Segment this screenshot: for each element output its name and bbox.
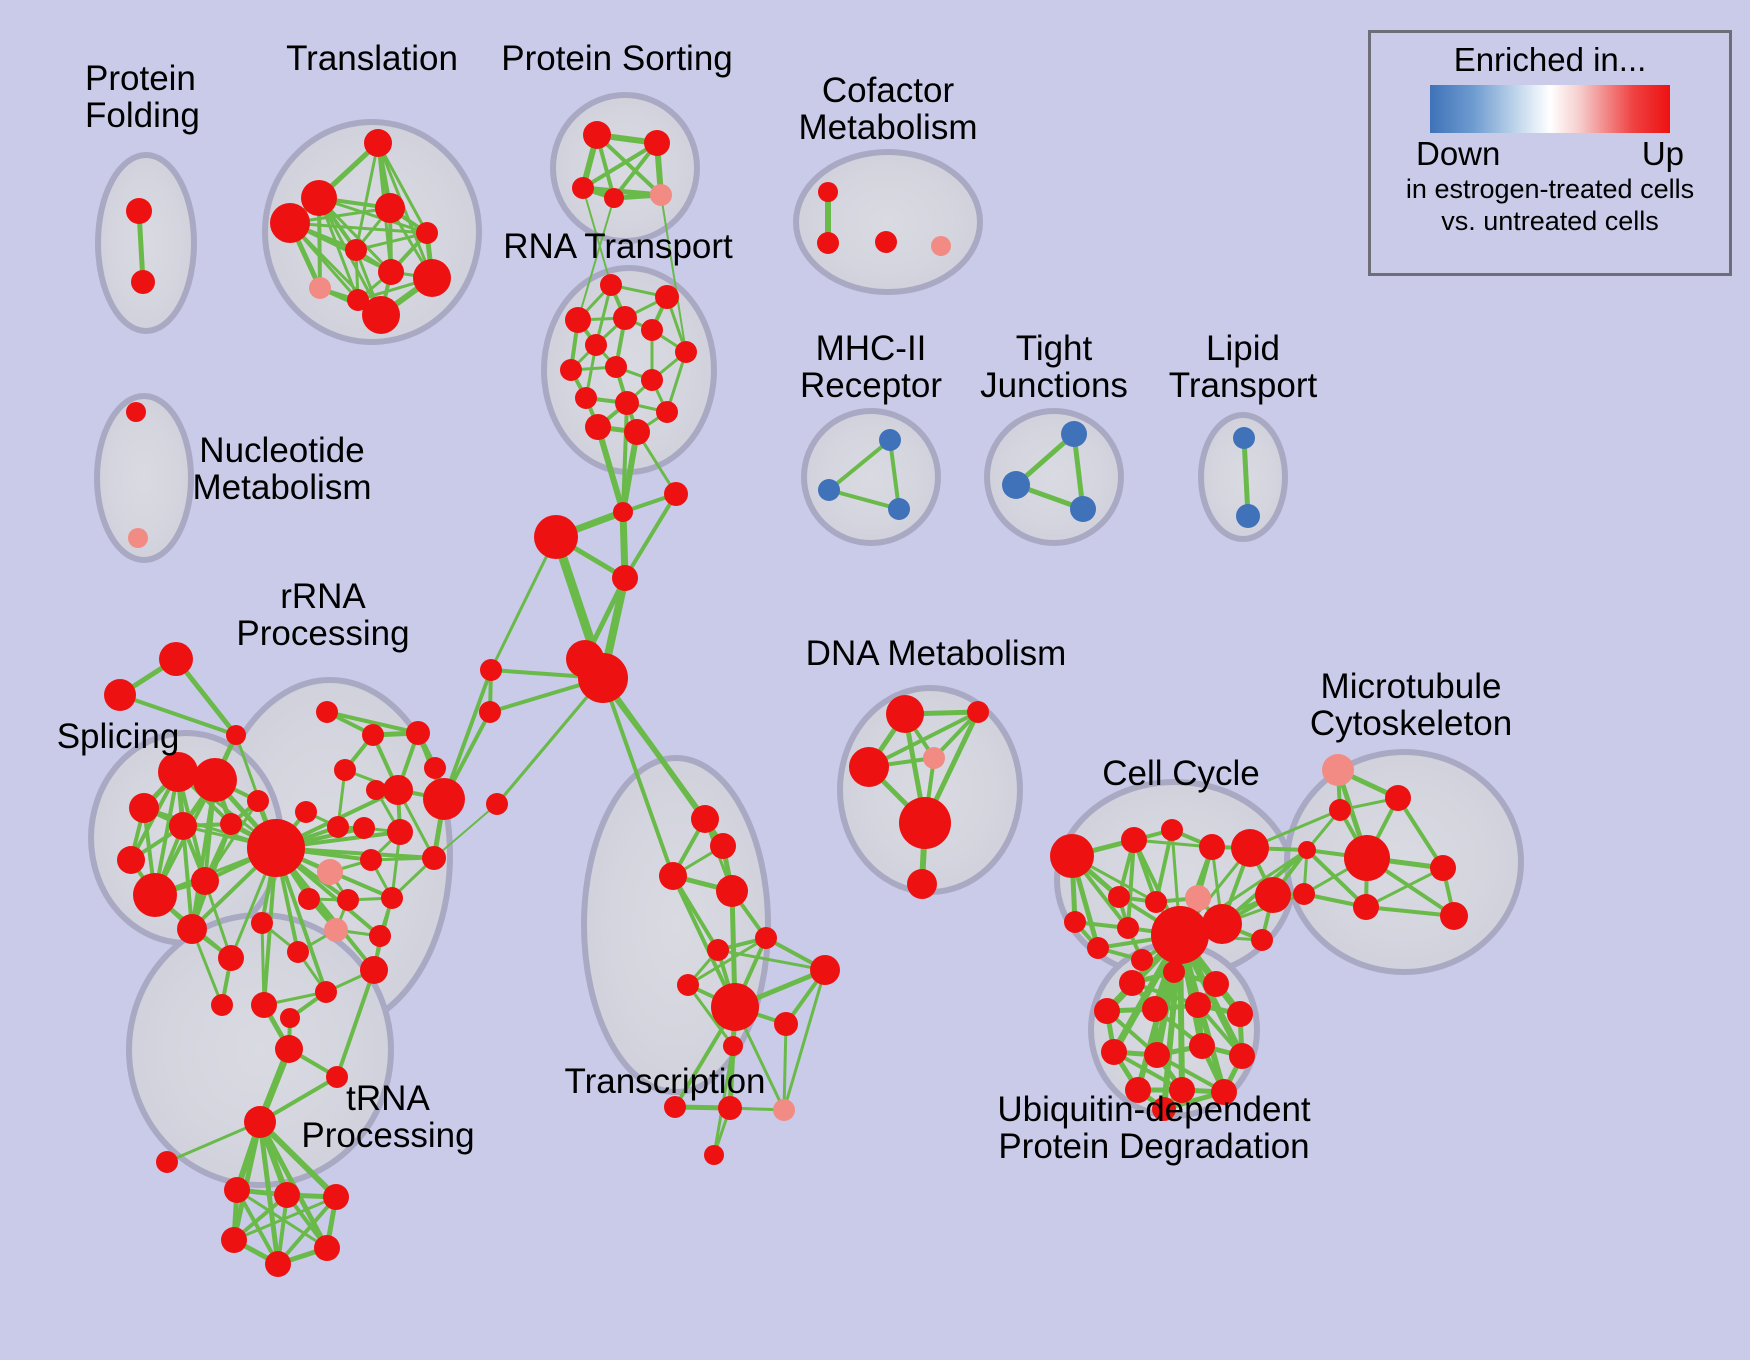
network-node[interactable] xyxy=(572,177,594,199)
network-node[interactable] xyxy=(177,914,207,944)
network-node[interactable] xyxy=(406,721,430,745)
legend-high-label: Up xyxy=(1642,135,1684,173)
network-node[interactable] xyxy=(324,918,348,942)
cluster-label-line: Nucleotide xyxy=(193,432,372,469)
cluster-label-trna-processing: tRNAProcessing xyxy=(301,1080,474,1154)
network-node[interactable] xyxy=(247,819,305,877)
network-node[interactable] xyxy=(716,875,748,907)
cluster-label-line: Folding xyxy=(85,97,200,134)
cluster-label-splicing: Splicing xyxy=(57,718,180,755)
cluster-label-dna-metabolism: DNA Metabolism xyxy=(806,635,1067,672)
cluster-label-line: Splicing xyxy=(57,718,180,755)
network-node[interactable] xyxy=(156,1151,178,1173)
cluster-label-line: MHC-II xyxy=(800,330,942,367)
cluster-label-protein-sorting: Protein Sorting xyxy=(501,40,733,77)
network-node[interactable] xyxy=(1070,496,1096,522)
network-node[interactable] xyxy=(1050,834,1094,878)
cluster-label-line: Transport xyxy=(1169,367,1317,404)
network-node[interactable] xyxy=(817,232,839,254)
network-node[interactable] xyxy=(613,502,633,522)
network-node[interactable] xyxy=(117,846,145,874)
network-node[interactable] xyxy=(1385,785,1411,811)
network-node[interactable] xyxy=(710,833,736,859)
network-node[interactable] xyxy=(159,642,193,676)
network-node[interactable] xyxy=(126,402,146,422)
cluster-label-lipid-transport: LipidTransport xyxy=(1169,330,1317,404)
network-node[interactable] xyxy=(247,790,269,812)
network-node[interactable] xyxy=(1440,902,1468,930)
cluster-label-line: Translation xyxy=(286,40,458,77)
network-node[interactable] xyxy=(578,653,628,703)
network-node[interactable] xyxy=(560,359,582,381)
network-node[interactable] xyxy=(704,1145,724,1165)
network-node[interactable] xyxy=(1145,891,1167,913)
network-node[interactable] xyxy=(888,498,910,520)
network-node[interactable] xyxy=(129,793,159,823)
network-node[interactable] xyxy=(353,817,375,839)
cluster-label-cell-cycle: Cell Cycle xyxy=(1102,755,1260,792)
network-node[interactable] xyxy=(274,1182,300,1208)
network-node[interactable] xyxy=(369,925,391,947)
cluster-label-nucleotide-metabolism: NucleotideMetabolism xyxy=(193,432,372,506)
network-node[interactable] xyxy=(424,757,446,779)
network-node[interactable] xyxy=(656,401,678,423)
network-node[interactable] xyxy=(644,130,670,156)
network-node[interactable] xyxy=(612,565,638,591)
network-node[interactable] xyxy=(327,816,349,838)
network-node[interactable] xyxy=(1251,929,1273,951)
cluster-label-line: tRNA xyxy=(301,1080,474,1117)
network-node[interactable] xyxy=(575,387,597,409)
cluster-hull-protein-folding xyxy=(98,155,194,331)
network-node[interactable] xyxy=(221,1227,247,1253)
network-node[interactable] xyxy=(317,859,343,885)
network-node[interactable] xyxy=(1131,949,1153,971)
network-node[interactable] xyxy=(169,812,197,840)
network-node[interactable] xyxy=(849,747,889,787)
cluster-hull-cofactor-metabolism xyxy=(796,152,980,292)
network-node[interactable] xyxy=(675,341,697,363)
network-edge xyxy=(625,494,676,578)
network-node[interactable] xyxy=(423,778,465,820)
network-node[interactable] xyxy=(899,797,951,849)
network-node[interactable] xyxy=(309,277,331,299)
network-node[interactable] xyxy=(677,974,699,996)
network-node[interactable] xyxy=(1329,799,1351,821)
network-node[interactable] xyxy=(486,793,508,815)
network-node[interactable] xyxy=(1255,877,1291,913)
network-node[interactable] xyxy=(613,306,637,330)
cluster-label-line: Junctions xyxy=(980,367,1128,404)
network-node[interactable] xyxy=(345,239,367,261)
network-node[interactable] xyxy=(316,701,338,723)
network-node[interactable] xyxy=(691,805,719,833)
network-node[interactable] xyxy=(364,129,392,157)
network-node[interactable] xyxy=(479,701,501,723)
network-node[interactable] xyxy=(723,1036,743,1056)
network-node[interactable] xyxy=(270,203,310,243)
network-node[interactable] xyxy=(1353,894,1379,920)
network-node[interactable] xyxy=(226,725,246,745)
network-node[interactable] xyxy=(585,334,607,356)
network-node[interactable] xyxy=(191,867,219,895)
network-node[interactable] xyxy=(1087,937,1109,959)
network-edge xyxy=(491,537,556,670)
cluster-label-line: Lipid xyxy=(1169,330,1317,367)
network-node[interactable] xyxy=(650,184,672,206)
network-node[interactable] xyxy=(362,724,384,746)
network-node[interactable] xyxy=(624,419,650,445)
network-node[interactable] xyxy=(315,981,337,1003)
cluster-label-rna-transport: RNA Transport xyxy=(503,228,733,265)
cluster-label-line: Processing xyxy=(236,615,409,652)
cluster-hull-protein-sorting xyxy=(553,95,697,241)
network-node[interactable] xyxy=(480,659,502,681)
network-node[interactable] xyxy=(659,862,687,890)
cluster-label-line: Cytoskeleton xyxy=(1310,705,1512,742)
cluster-label-line: Microtubule xyxy=(1310,668,1512,705)
network-edge xyxy=(784,1024,786,1110)
network-node[interactable] xyxy=(381,887,403,909)
legend-color-gradient-bar xyxy=(1430,85,1670,133)
network-node[interactable] xyxy=(600,274,622,296)
legend-title: Enriched in... xyxy=(1454,41,1647,79)
legend-panel: Enriched in... Down Up in estrogen-treat… xyxy=(1368,30,1732,276)
network-node[interactable] xyxy=(1185,992,1211,1018)
network-node[interactable] xyxy=(1233,427,1255,449)
network-node[interactable] xyxy=(251,912,273,934)
network-node[interactable] xyxy=(1293,883,1315,905)
network-node[interactable] xyxy=(1203,971,1229,997)
network-node[interactable] xyxy=(1002,471,1030,499)
cluster-label-line: DNA Metabolism xyxy=(806,635,1067,672)
network-node[interactable] xyxy=(1199,834,1225,860)
network-node[interactable] xyxy=(218,945,244,971)
network-node[interactable] xyxy=(375,193,405,223)
network-node[interactable] xyxy=(1229,1043,1255,1069)
cluster-label-protein-folding: ProteinFolding xyxy=(85,60,200,134)
cluster-label-microtubule-cytoskeleton: MicrotubuleCytoskeleton xyxy=(1310,668,1512,742)
legend-subtitle-line-1: in estrogen-treated cells xyxy=(1406,175,1694,205)
network-node[interactable] xyxy=(641,319,663,341)
network-node[interactable] xyxy=(585,414,611,440)
cluster-label-line: Cofactor xyxy=(799,72,978,109)
cluster-label-line: Receptor xyxy=(800,367,942,404)
cluster-label-line: Ubiquitin-dependent xyxy=(997,1091,1310,1128)
network-node[interactable] xyxy=(280,1008,300,1028)
network-node[interactable] xyxy=(1227,1001,1253,1027)
network-node[interactable] xyxy=(604,188,624,208)
network-node[interactable] xyxy=(416,222,438,244)
network-node[interactable] xyxy=(387,819,413,845)
network-node[interactable] xyxy=(1144,1042,1170,1068)
network-node[interactable] xyxy=(534,515,578,559)
network-node[interactable] xyxy=(362,296,400,334)
network-node[interactable] xyxy=(383,775,413,805)
network-node[interactable] xyxy=(583,121,611,149)
network-node[interactable] xyxy=(422,846,446,870)
network-node[interactable] xyxy=(931,236,951,256)
cluster-label-line: Tight xyxy=(980,330,1128,367)
network-node[interactable] xyxy=(1344,835,1390,881)
network-node[interactable] xyxy=(275,1035,303,1063)
cluster-label-transcription: Transcription xyxy=(565,1063,766,1100)
network-node[interactable] xyxy=(1101,1039,1127,1065)
network-node[interactable] xyxy=(655,285,679,309)
network-node[interactable] xyxy=(1298,841,1316,859)
cluster-label-line: Protein xyxy=(85,60,200,97)
network-node[interactable] xyxy=(323,1184,349,1210)
network-node[interactable] xyxy=(1121,827,1147,853)
network-node[interactable] xyxy=(1151,906,1209,964)
network-node[interactable] xyxy=(967,701,989,723)
network-node[interactable] xyxy=(265,1251,291,1277)
cluster-label-cofactor-metabolism: CofactorMetabolism xyxy=(799,72,978,146)
network-node[interactable] xyxy=(301,180,337,216)
network-node[interactable] xyxy=(337,889,359,911)
network-node[interactable] xyxy=(220,813,242,835)
network-node[interactable] xyxy=(605,356,627,378)
legend-subtitle-line-2: vs. untreated cells xyxy=(1441,207,1659,237)
network-node[interactable] xyxy=(193,758,237,802)
network-node[interactable] xyxy=(711,983,759,1031)
cluster-label-line: rRNA xyxy=(236,578,409,615)
network-node[interactable] xyxy=(298,888,320,910)
network-node[interactable] xyxy=(1117,917,1139,939)
cluster-label-rrna-processing: rRNAProcessing xyxy=(236,578,409,652)
network-node[interactable] xyxy=(360,849,382,871)
network-node[interactable] xyxy=(773,1099,795,1121)
cluster-label-ubiquitin-protein-degradation: Ubiquitin-dependentProtein Degradation xyxy=(997,1091,1310,1165)
legend-endpoint-labels: Down Up xyxy=(1416,135,1684,173)
network-node[interactable] xyxy=(907,869,937,899)
network-node[interactable] xyxy=(1119,970,1145,996)
network-node[interactable] xyxy=(360,956,388,984)
cluster-label-line: Protein Degradation xyxy=(997,1128,1310,1165)
cluster-label-translation: Translation xyxy=(286,40,458,77)
network-node[interactable] xyxy=(1236,504,1260,528)
network-node[interactable] xyxy=(879,429,901,451)
network-node[interactable] xyxy=(104,679,136,711)
network-node[interactable] xyxy=(158,752,198,792)
network-node[interactable] xyxy=(1108,886,1130,908)
network-node[interactable] xyxy=(615,391,639,415)
network-node[interactable] xyxy=(1064,911,1086,933)
network-figure: ProteinFoldingTranslationProtein Sorting… xyxy=(0,0,1750,1360)
cluster-label-tight-junctions: TightJunctions xyxy=(980,330,1128,404)
network-node[interactable] xyxy=(1161,819,1183,841)
network-node[interactable] xyxy=(133,873,177,917)
cluster-label-line: Cell Cycle xyxy=(1102,755,1260,792)
network-node[interactable] xyxy=(211,994,233,1016)
network-node[interactable] xyxy=(875,231,897,253)
network-node[interactable] xyxy=(251,992,277,1018)
network-node[interactable] xyxy=(413,259,451,297)
network-node[interactable] xyxy=(131,270,155,294)
network-node[interactable] xyxy=(810,955,840,985)
network-node[interactable] xyxy=(224,1177,250,1203)
legend-low-label: Down xyxy=(1416,135,1500,173)
network-node[interactable] xyxy=(774,1012,798,1036)
network-node[interactable] xyxy=(378,259,404,285)
network-node[interactable] xyxy=(818,479,840,501)
network-node[interactable] xyxy=(334,759,356,781)
network-node[interactable] xyxy=(287,941,309,963)
network-node[interactable] xyxy=(1185,885,1211,911)
network-node[interactable] xyxy=(707,939,729,961)
cluster-label-line: Metabolism xyxy=(799,109,978,146)
network-edge xyxy=(784,970,825,1110)
network-node[interactable] xyxy=(128,528,148,548)
network-node[interactable] xyxy=(1142,996,1168,1022)
network-node[interactable] xyxy=(886,695,924,733)
network-node[interactable] xyxy=(664,482,688,506)
network-node[interactable] xyxy=(244,1106,276,1138)
cluster-label-line: Processing xyxy=(301,1117,474,1154)
network-node[interactable] xyxy=(1430,855,1456,881)
cluster-label-line: RNA Transport xyxy=(503,228,733,265)
cluster-label-line: Transcription xyxy=(565,1063,766,1100)
network-node[interactable] xyxy=(126,198,152,224)
cluster-label-line: Metabolism xyxy=(193,469,372,506)
network-node[interactable] xyxy=(1094,998,1120,1024)
network-node[interactable] xyxy=(923,747,945,769)
network-node[interactable] xyxy=(1061,421,1087,447)
network-node[interactable] xyxy=(641,369,663,391)
cluster-label-mhc-ii-receptor: MHC-IIReceptor xyxy=(800,330,942,404)
network-node[interactable] xyxy=(565,307,591,333)
cluster-label-line: Protein Sorting xyxy=(501,40,733,77)
network-node[interactable] xyxy=(755,927,777,949)
network-node[interactable] xyxy=(1163,961,1185,983)
network-node[interactable] xyxy=(1189,1033,1215,1059)
network-node[interactable] xyxy=(314,1235,340,1261)
network-node[interactable] xyxy=(295,801,317,823)
cluster-hull-mhc-ii-receptor xyxy=(804,411,938,543)
network-node[interactable] xyxy=(1322,754,1354,786)
network-node[interactable] xyxy=(818,182,838,202)
network-node[interactable] xyxy=(1231,829,1269,867)
